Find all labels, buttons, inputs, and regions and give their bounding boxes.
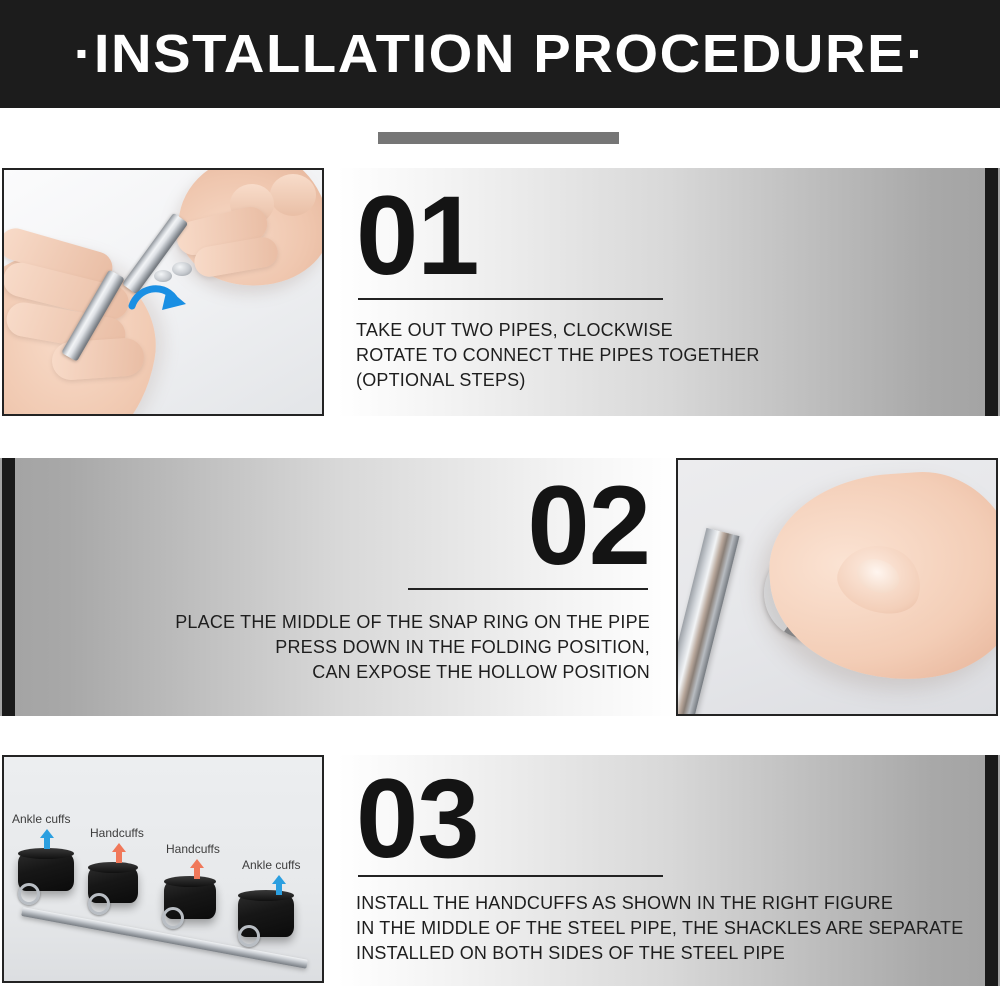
step-3-line-3: INSTALLED ON BOTH SIDES OF THE STEEL PIP… <box>356 941 960 966</box>
up-arrow-icon <box>272 875 286 895</box>
step-1-line-3: (OPTIONAL STEPS) <box>356 368 960 393</box>
pipe-cap <box>172 262 192 276</box>
photo3-label-2: Handcuffs <box>166 843 220 855</box>
d-ring <box>162 907 184 929</box>
step-2-line-2: PRESS DOWN IN THE FOLDING POSITION, <box>40 635 650 660</box>
step-row-3: Ankle cuffs Handcuffs Handcuffs Ankle cu… <box>0 755 1000 990</box>
photo3-label-1: Handcuffs <box>90 827 144 839</box>
step-3-panel: 03 INSTALL THE HANDCUFFS AS SHOWN IN THE… <box>338 755 1000 986</box>
d-ring <box>88 893 110 915</box>
step-3-content: 03 INSTALL THE HANDCUFFS AS SHOWN IN THE… <box>356 755 960 986</box>
step-row-1: 01 TAKE OUT TWO PIPES, CLOCKWISE ROTATE … <box>0 168 1000 426</box>
step-1-line-2: ROTATE TO CONNECT THE PIPES TOGETHER <box>356 343 960 368</box>
photo3-label-3: Ankle cuffs <box>242 859 300 871</box>
step-3-number: 03 <box>356 755 960 875</box>
clockwise-rotation-arrow-icon <box>128 280 190 328</box>
step-2-photo-scene <box>678 460 996 714</box>
header-divider-bar <box>378 132 619 144</box>
step-3-photo-scene: Ankle cuffs Handcuffs Handcuffs Ankle cu… <box>4 757 322 981</box>
up-arrow-icon <box>40 829 54 849</box>
step-2-panel: 02 PLACE THE MIDDLE OF THE SNAP RING ON … <box>0 458 676 716</box>
page-header: ·INSTALLATION PROCEDURE· <box>0 0 1000 108</box>
step-2-line-3: CAN EXPOSE THE HOLLOW POSITION <box>40 660 650 685</box>
step-2-content: 02 PLACE THE MIDDLE OF THE SNAP RING ON … <box>40 458 650 716</box>
step-1-photo <box>2 168 324 416</box>
step-2-line-1: PLACE THE MIDDLE OF THE SNAP RING ON THE… <box>40 610 650 635</box>
step-1-panel: 01 TAKE OUT TWO PIPES, CLOCKWISE ROTATE … <box>338 168 1000 416</box>
step-3-edge-stripe <box>985 755 998 986</box>
step-1-line-1: TAKE OUT TWO PIPES, CLOCKWISE <box>356 318 960 343</box>
step-3-line-2: IN THE MIDDLE OF THE STEEL PIPE, THE SHA… <box>356 916 960 941</box>
step-2-number: 02 <box>40 458 650 588</box>
up-arrow-icon <box>112 843 126 863</box>
step-1-description: TAKE OUT TWO PIPES, CLOCKWISE ROTATE TO … <box>356 300 960 393</box>
step-2-description: PLACE THE MIDDLE OF THE SNAP RING ON THE… <box>40 590 650 685</box>
step-1-photo-scene <box>4 170 322 414</box>
step-row-2: 02 PLACE THE MIDDLE OF THE SNAP RING ON … <box>0 458 1000 716</box>
step-2-edge-stripe <box>2 458 15 716</box>
d-ring <box>18 883 40 905</box>
knuckle-shape <box>270 174 316 216</box>
d-ring <box>238 925 260 947</box>
step-1-number: 01 <box>356 168 960 298</box>
step-1-content: 01 TAKE OUT TWO PIPES, CLOCKWISE ROTATE … <box>356 168 960 416</box>
step-3-line-1: INSTALL THE HANDCUFFS AS SHOWN IN THE RI… <box>356 891 960 916</box>
photo3-label-0: Ankle cuffs <box>12 813 70 825</box>
step-1-edge-stripe <box>985 168 998 416</box>
step-3-description: INSTALL THE HANDCUFFS AS SHOWN IN THE RI… <box>356 877 960 966</box>
page-title: ·INSTALLATION PROCEDURE· <box>74 27 927 81</box>
step-3-photo: Ankle cuffs Handcuffs Handcuffs Ankle cu… <box>2 755 324 983</box>
up-arrow-icon <box>190 859 204 879</box>
step-2-photo <box>676 458 998 716</box>
